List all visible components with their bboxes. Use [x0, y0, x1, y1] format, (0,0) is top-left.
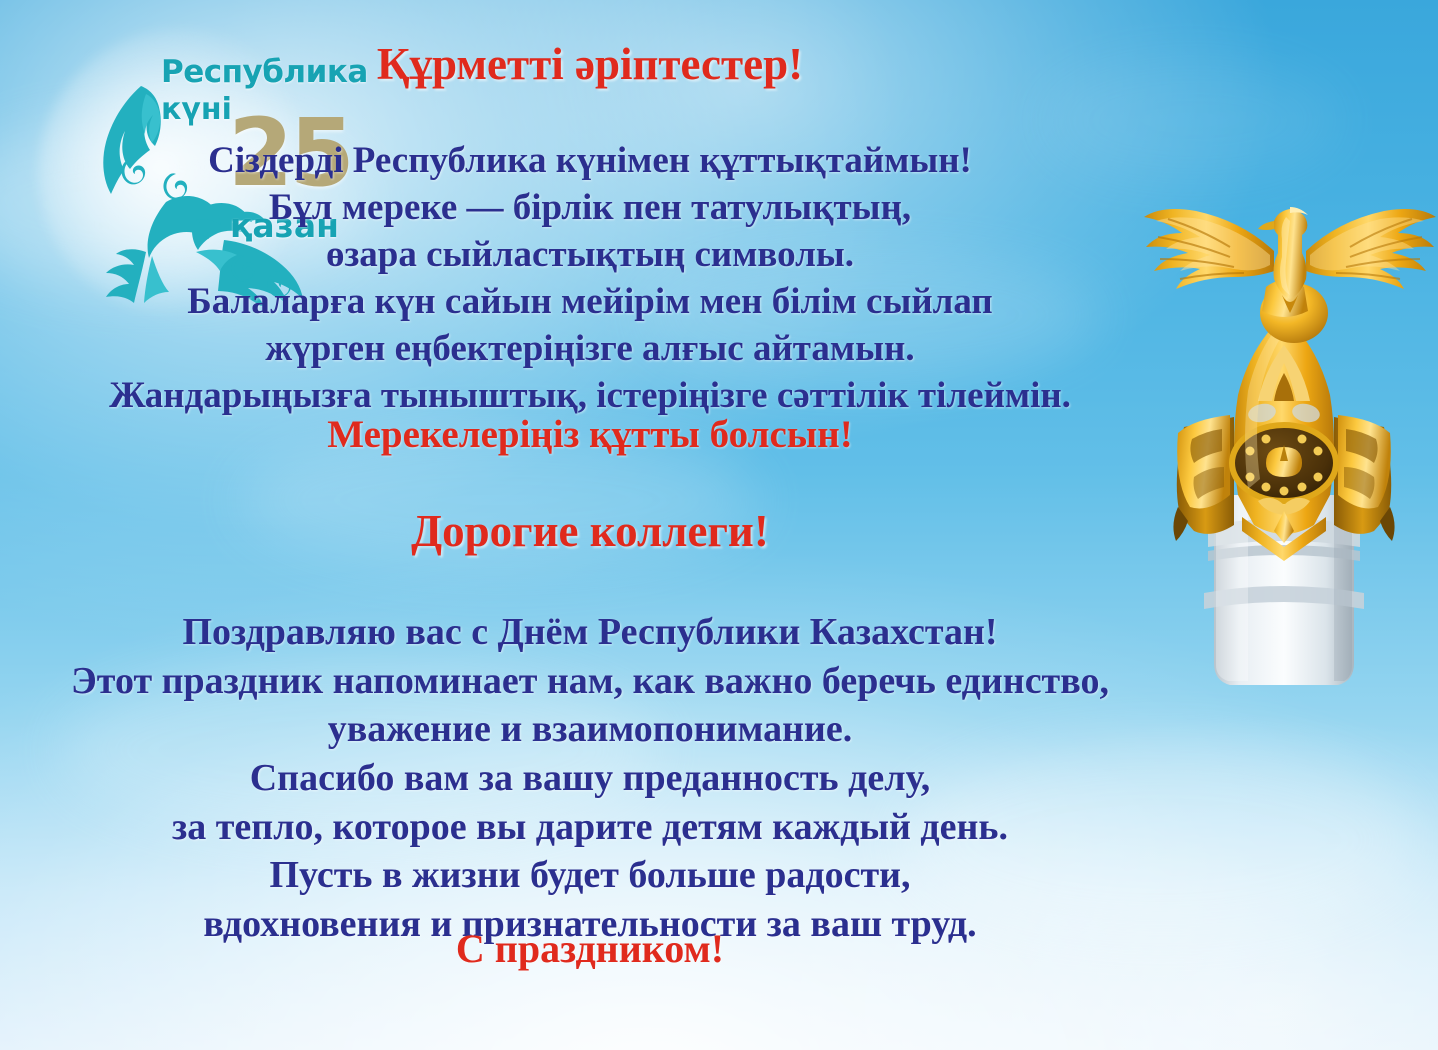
kazakh-eli-monument-icon	[1138, 195, 1438, 895]
russian-message: Поздравляю вас с Днём Республики Казахст…	[0, 608, 1180, 948]
kazakh-message: Сіздерді Республика күнімен құттықтаймын…	[0, 138, 1180, 420]
kazakh-line: Балаларға күн сайын мейірім мен білім сы…	[0, 279, 1180, 326]
russian-line: Этот праздник напоминает нам, как важно …	[0, 657, 1180, 706]
russian-line: Пусть в жизни будет больше радости,	[0, 851, 1180, 900]
russian-line: уважение и взаимопонимание.	[0, 705, 1180, 754]
russian-line: Спасибо вам за вашу преданность делу,	[0, 754, 1180, 803]
russian-line: Поздравляю вас с Днём Республики Казахст…	[0, 608, 1180, 657]
kazakh-title: Құрметті әріптестер!	[0, 38, 1180, 90]
kazakh-line: Сіздерді Республика күнімен құттықтаймын…	[0, 138, 1180, 185]
kazakh-line: өзара сыйластықтың символы.	[0, 232, 1180, 279]
golden-crown-ornament-icon	[1173, 280, 1394, 561]
greeting-card: Республика күні 25 қазан	[0, 0, 1438, 1050]
russian-line: за тепло, которое вы дарите детям каждый…	[0, 803, 1180, 852]
kazakh-line: Бұл мереке — бірлік пен татулықтың,	[0, 185, 1180, 232]
kazakh-wish: Мерекелеріңіз құтты болсын!	[0, 412, 1180, 457]
russian-wish: С праздником!	[0, 925, 1180, 972]
russian-title: Дорогие коллеги!	[0, 505, 1180, 557]
kazakh-line: жүрген еңбектеріңізге алғыс айтамын.	[0, 326, 1180, 373]
golden-eagle-samruk-icon	[1144, 207, 1436, 313]
logo-kuni-text: күні	[161, 92, 232, 127]
